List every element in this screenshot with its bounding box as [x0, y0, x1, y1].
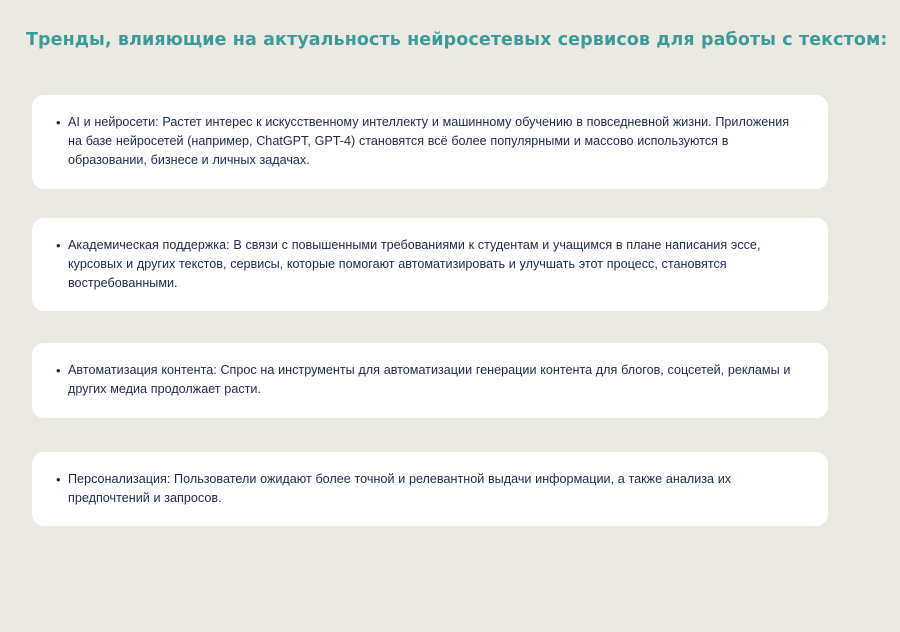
- bullet-point-icon: •: [54, 361, 68, 380]
- trend-card-text: Персонализация: Пользователи ожидают бол…: [68, 470, 804, 508]
- slide-page: Тренды, влияющие на актуальность нейросе…: [0, 0, 900, 632]
- bullet-point-icon: •: [54, 470, 68, 489]
- page-title: Тренды, влияющие на актуальность нейросе…: [26, 30, 888, 50]
- trend-card-text: AI и нейросети: Растет интерес к искусст…: [68, 113, 804, 171]
- trend-card-text: Автоматизация контента: Спрос на инструм…: [68, 361, 804, 399]
- trend-card-list: • AI и нейросети: Растет интерес к искус…: [32, 95, 828, 526]
- bullet-item: • Автоматизация контента: Спрос на инстр…: [54, 361, 804, 399]
- bullet-item: • Персонализация: Пользователи ожидают б…: [54, 470, 804, 508]
- trend-card: • Персонализация: Пользователи ожидают б…: [32, 452, 828, 526]
- trend-card-text: Академическая поддержка: В связи с повыш…: [68, 236, 804, 294]
- bullet-item: • AI и нейросети: Растет интерес к искус…: [54, 113, 804, 171]
- bullet-point-icon: •: [54, 236, 68, 255]
- trend-card: • Академическая поддержка: В связи с пов…: [32, 218, 828, 312]
- trend-card: • Автоматизация контента: Спрос на инстр…: [32, 343, 828, 417]
- bullet-point-icon: •: [54, 113, 68, 132]
- bullet-item: • Академическая поддержка: В связи с пов…: [54, 236, 804, 294]
- trend-card: • AI и нейросети: Растет интерес к искус…: [32, 95, 828, 189]
